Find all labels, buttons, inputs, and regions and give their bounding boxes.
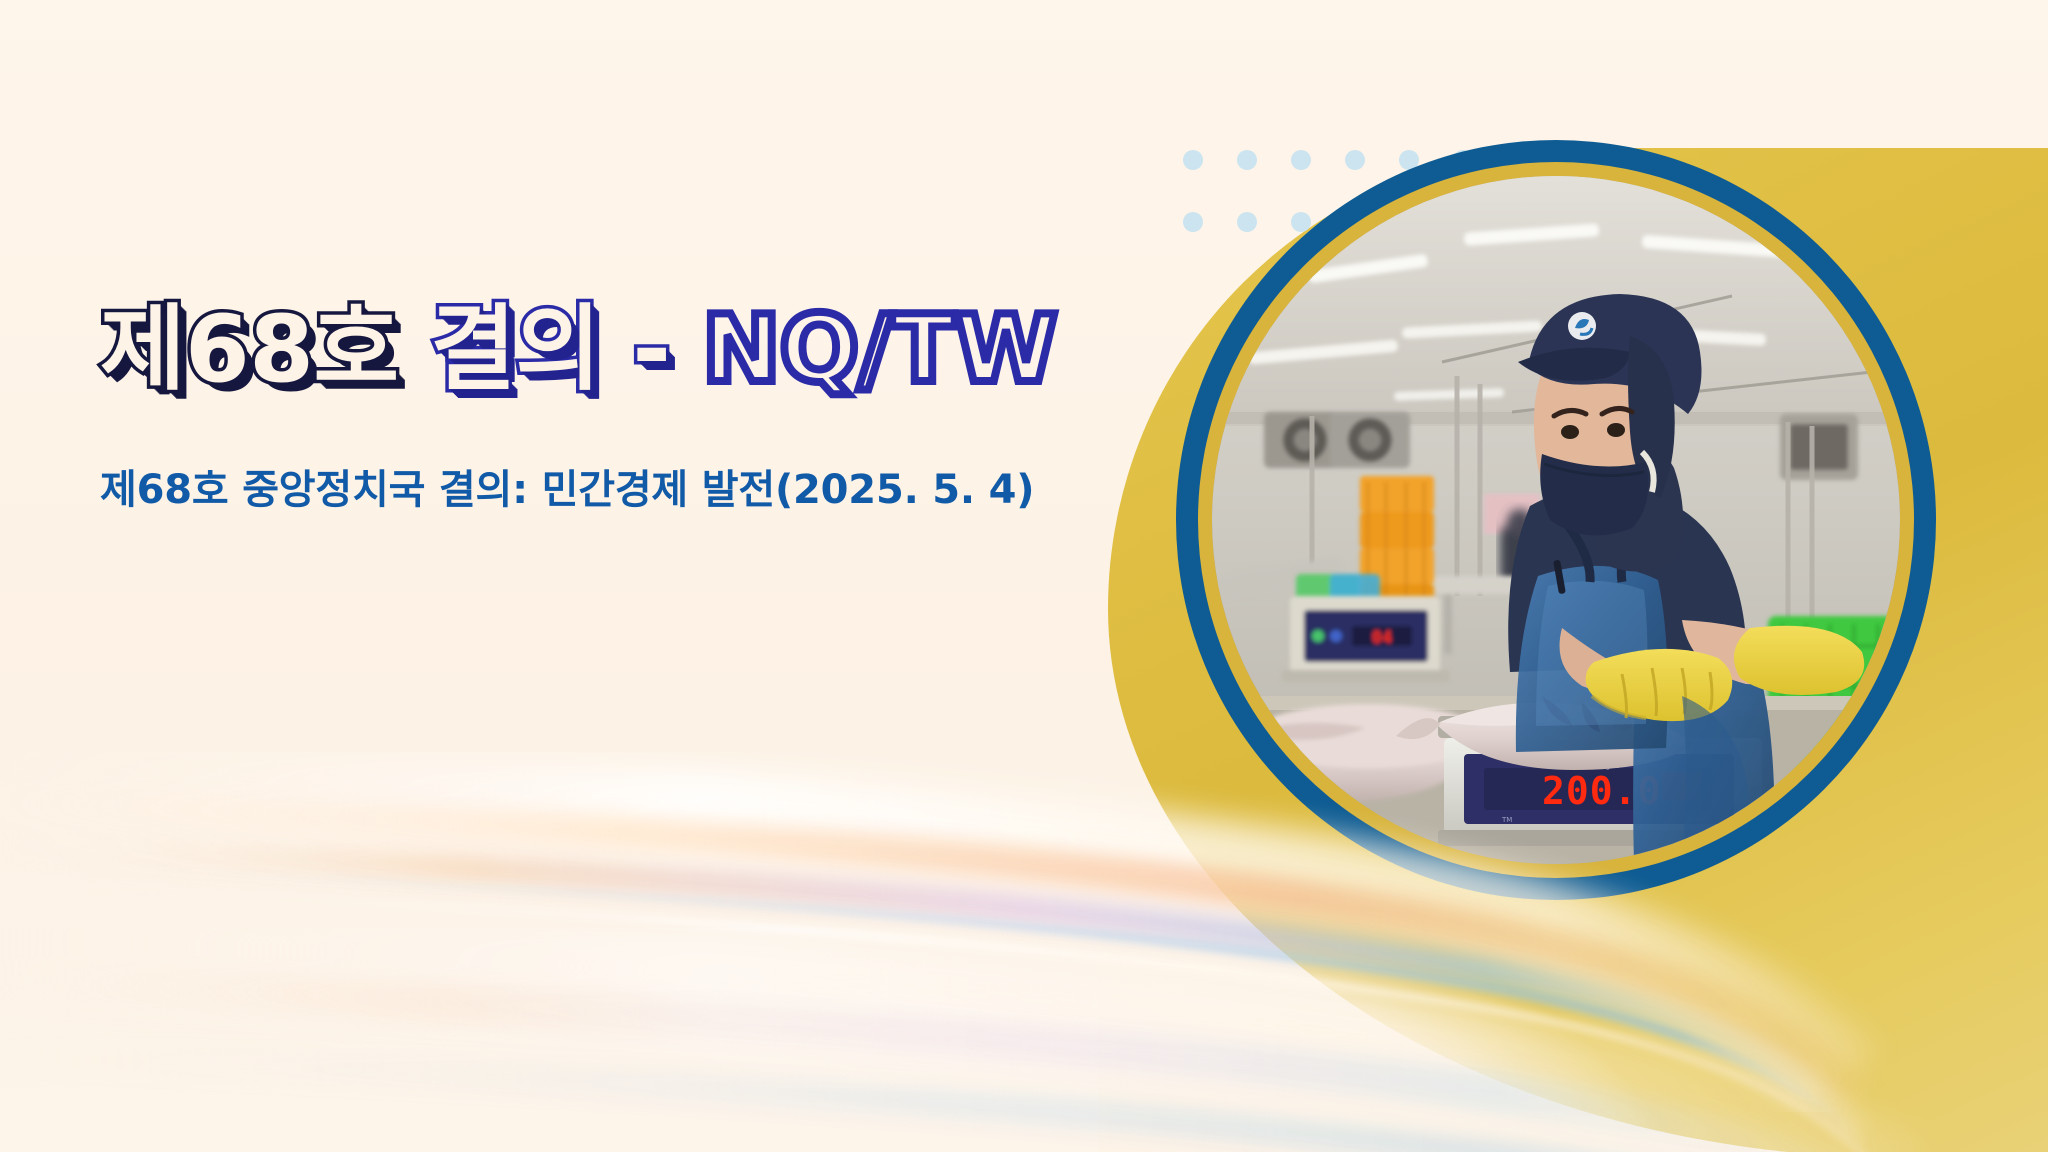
dot [1291, 150, 1311, 170]
page-subtitle: 제68호 중앙정치국 결의: 민간경제 발전(2025. 5. 4) [100, 457, 1130, 515]
headline-segment-outline: NQ/TW [671, 295, 1057, 403]
dot [1183, 150, 1203, 170]
svg-text:04: 04 [1372, 628, 1392, 648]
page-title: 제68호 결의 - NQ/TW [100, 300, 1130, 399]
svg-text:TM: TM [1501, 816, 1512, 824]
slide-root: 04 [0, 0, 2048, 1152]
dot [1183, 212, 1203, 232]
dot [1237, 150, 1257, 170]
photo-ring-outer: 04 [1176, 140, 1936, 900]
headline-segment-dark: 제68호 [100, 295, 399, 403]
dot [1345, 150, 1365, 170]
text-block: 제68호 결의 - NQ/TW 제68호 중앙정치국 결의: 민간경제 발전(2… [100, 300, 1130, 515]
photo-illustration: 04 [1212, 176, 1900, 864]
circular-photo: 04 [1212, 176, 1900, 864]
headline-segment-blue: 결의 - [399, 295, 671, 403]
